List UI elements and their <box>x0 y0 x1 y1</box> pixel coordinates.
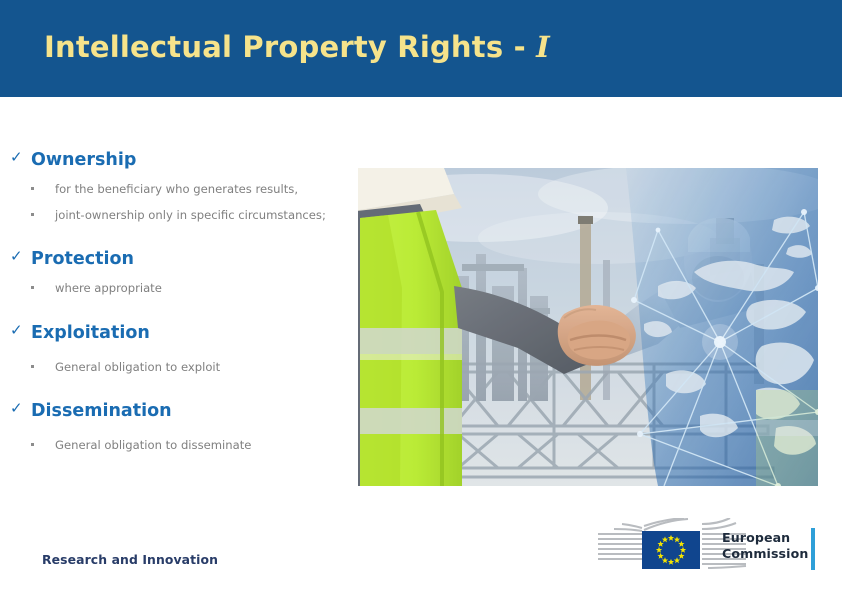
ec-wordmark-line2: Commission <box>722 546 808 562</box>
list-item-label: joint-ownership only in specific circums… <box>55 208 326 222</box>
slide-photo <box>358 168 818 486</box>
spacer <box>0 297 340 323</box>
page-title-numeral: I <box>536 30 550 64</box>
group-protection: ✓ Protection where appropriate <box>0 249 340 297</box>
square-bullet-icon <box>31 365 34 368</box>
group-heading-label: Dissemination <box>31 401 172 421</box>
square-bullet-icon <box>31 187 34 190</box>
spacer <box>0 345 340 359</box>
square-bullet-icon <box>31 443 34 446</box>
ec-wordmark-line1: European <box>722 530 808 546</box>
page-title-main: Intellectual Property Rights - <box>44 30 536 64</box>
spacer <box>0 172 340 181</box>
square-bullet-icon <box>31 213 34 216</box>
list-item: General obligation to exploit <box>0 359 340 375</box>
bullet-content: ✓ Ownership for the beneficiary who gene… <box>0 150 340 454</box>
slide: Intellectual Property Rights - I ✓ Owner… <box>0 0 842 595</box>
check-icon: ✓ <box>10 400 23 417</box>
list-item-label: General obligation to disseminate <box>55 438 251 452</box>
group-heading-protection: ✓ Protection <box>0 249 340 269</box>
list-item: General obligation to disseminate <box>0 437 340 453</box>
spacer <box>0 223 340 249</box>
check-icon: ✓ <box>10 248 23 265</box>
footer-department: Research and Innovation <box>42 552 218 567</box>
group-heading-label: Ownership <box>31 150 136 170</box>
spacer <box>0 198 340 207</box>
page-title: Intellectual Property Rights - I <box>44 30 550 64</box>
group-heading-label: Exploitation <box>31 323 150 343</box>
list-item: for the beneficiary who generates result… <box>0 181 340 197</box>
european-commission-logo: European Commission <box>596 518 821 580</box>
group-heading-dissemination: ✓ Dissemination <box>0 401 340 421</box>
spacer <box>0 375 340 401</box>
group-dissemination: ✓ Dissemination General obligation to di… <box>0 401 340 454</box>
square-bullet-icon <box>31 286 34 289</box>
spacer <box>0 271 340 280</box>
group-heading-exploitation: ✓ Exploitation <box>0 323 340 343</box>
list-item-label: for the beneficiary who generates result… <box>55 182 298 196</box>
list-item: joint-ownership only in specific circums… <box>0 207 340 223</box>
check-icon: ✓ <box>10 149 23 166</box>
list-item-label: where appropriate <box>55 281 162 295</box>
ec-wordmark: European Commission <box>722 530 808 562</box>
group-exploitation: ✓ Exploitation General obligation to exp… <box>0 323 340 376</box>
list-item: where appropriate <box>0 280 340 296</box>
group-heading-label: Protection <box>31 249 134 269</box>
check-icon: ✓ <box>10 322 23 339</box>
spacer <box>0 423 340 437</box>
group-ownership: ✓ Ownership for the beneficiary who gene… <box>0 150 340 223</box>
list-item-label: General obligation to exploit <box>55 360 220 374</box>
group-heading-ownership: ✓ Ownership <box>0 150 340 170</box>
